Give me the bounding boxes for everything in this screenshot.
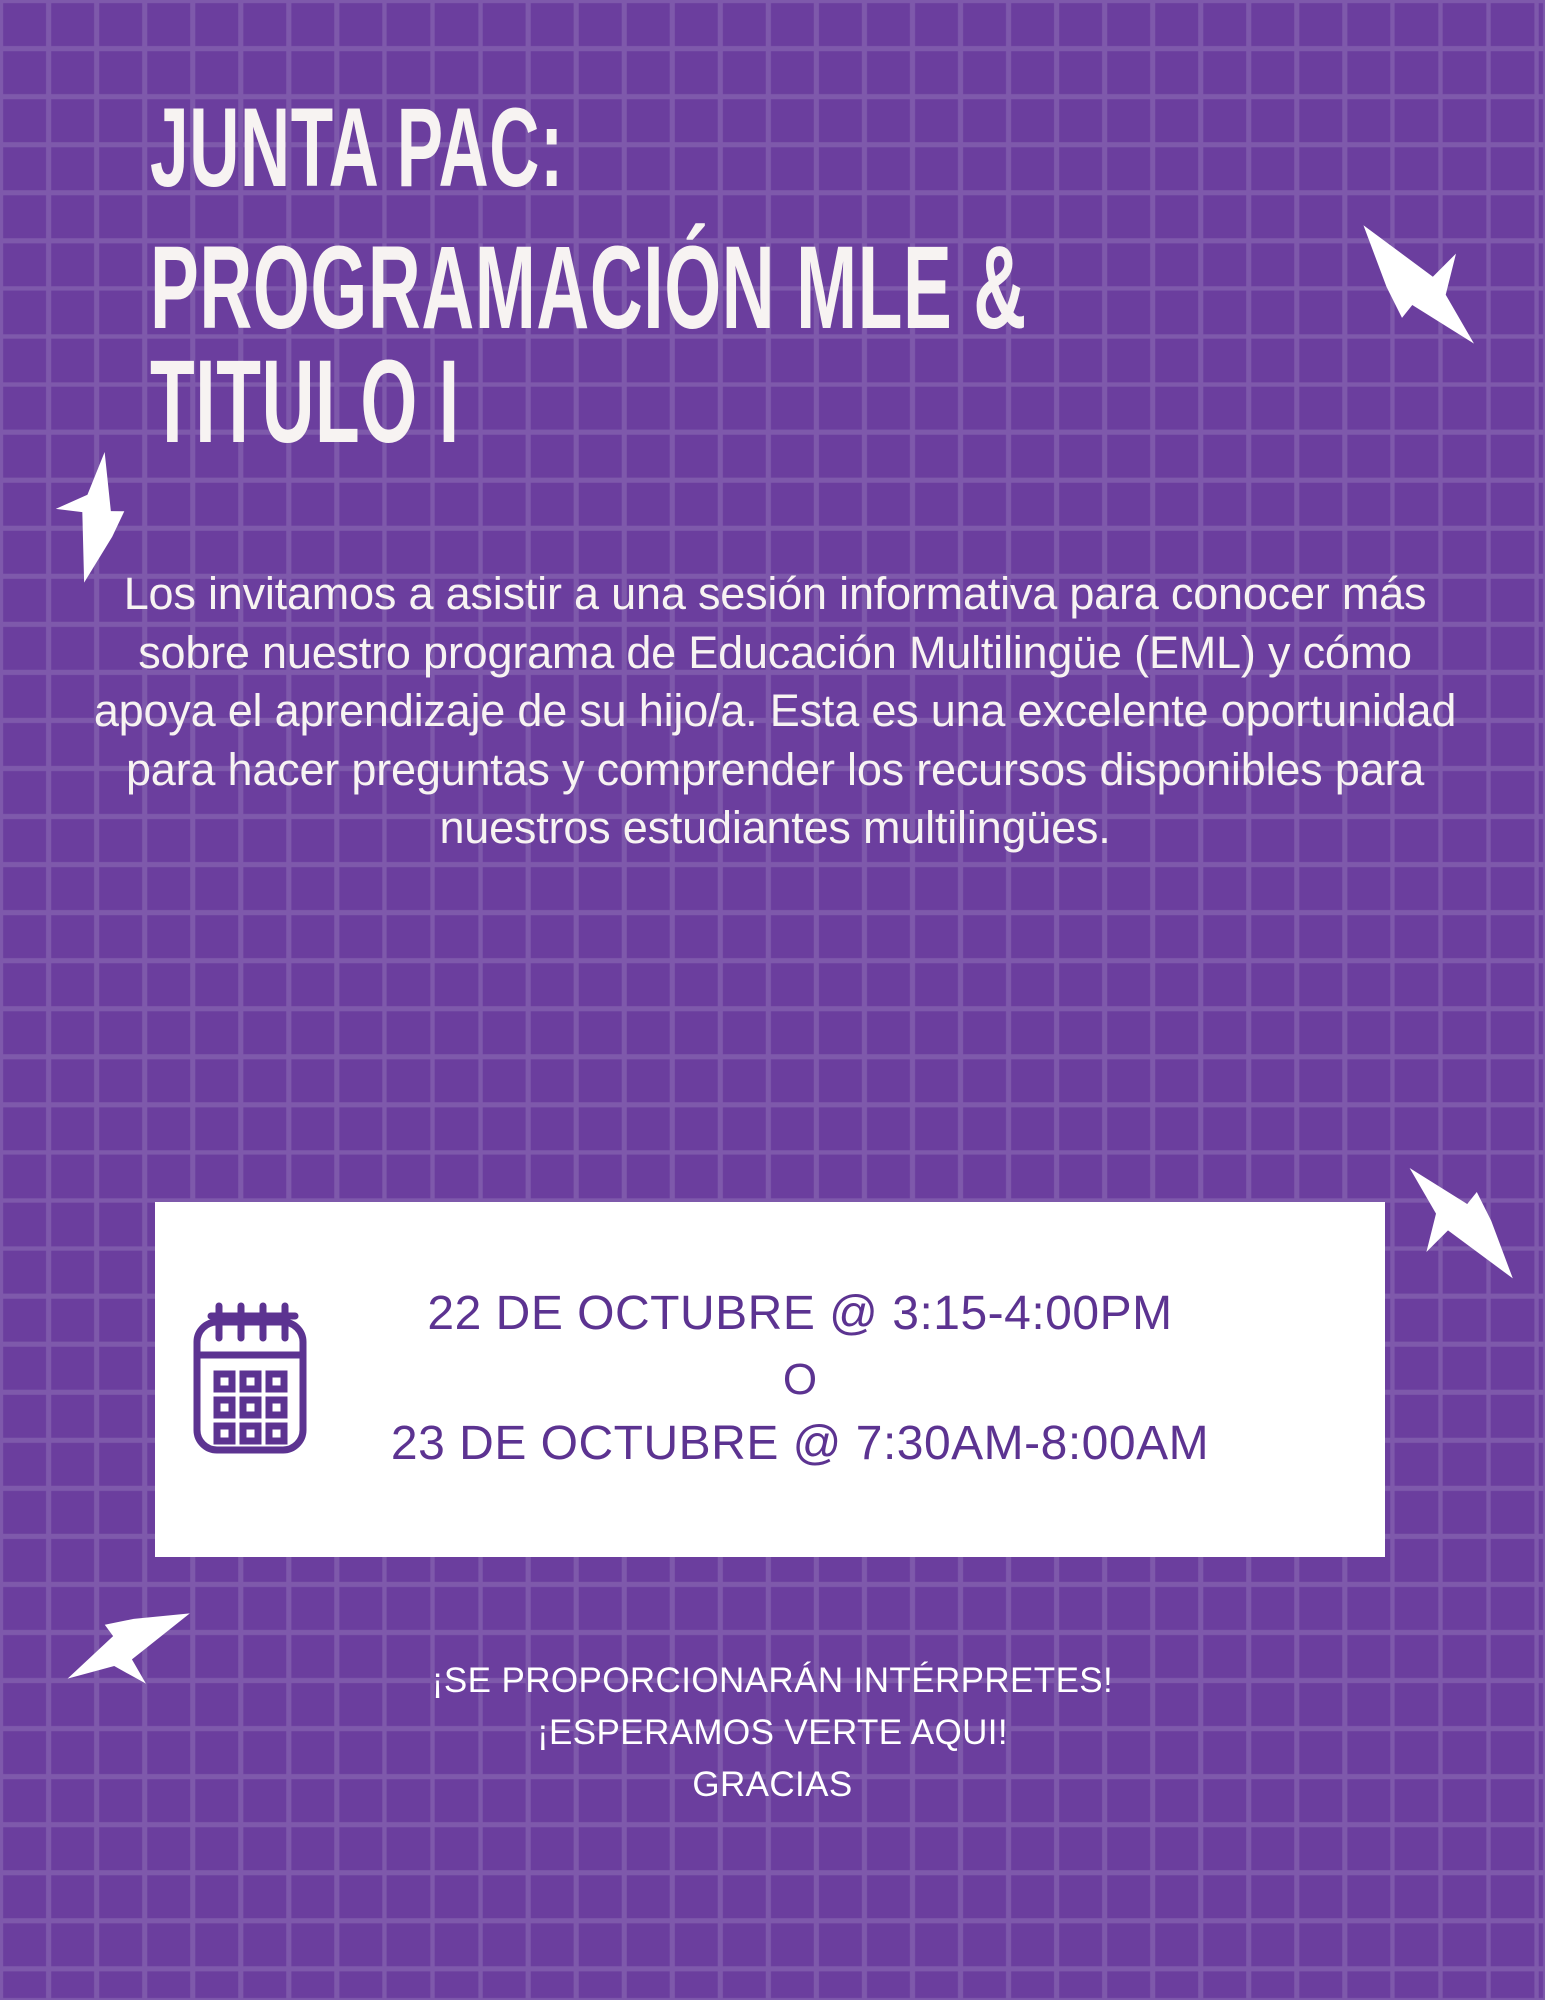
- date-card: 22 DE OCTUBRE @ 3:15-4:00PM O 23 DE OCTU…: [155, 1202, 1385, 1557]
- footer-line-2: ¡ESPERAMOS VERTE AQUI!: [0, 1707, 1545, 1759]
- date-option-1: 22 DE OCTUBRE @ 3:15-4:00PM: [225, 1281, 1375, 1347]
- body-paragraph: Los invitamos a asistir a una sesión inf…: [85, 565, 1465, 858]
- title-line-2: PROGRAMACIÓN MLE &: [150, 234, 925, 344]
- title-line-1: JUNTA PAC:: [150, 96, 925, 200]
- date-option-2: 23 DE OCTUBRE @ 7:30AM-8:00AM: [225, 1411, 1375, 1477]
- footer-line-3: GRACIAS: [0, 1759, 1545, 1811]
- page-title: JUNTA PAC: PROGRAMACIÓN MLE & TITULO I: [150, 96, 1400, 458]
- date-options: 22 DE OCTUBRE @ 3:15-4:00PM O 23 DE OCTU…: [155, 1281, 1385, 1477]
- footer-notes: ¡SE PROPORCIONARÁN INTÉRPRETES! ¡ESPERAM…: [0, 1655, 1545, 1810]
- flyer-canvas: JUNTA PAC: PROGRAMACIÓN MLE & TITULO I L…: [0, 0, 1545, 2000]
- footer-line-1: ¡SE PROPORCIONARÁN INTÉRPRETES!: [0, 1655, 1545, 1707]
- calendar-icon: [185, 1300, 315, 1460]
- date-separator: O: [225, 1348, 1375, 1412]
- title-line-3: TITULO I: [150, 348, 925, 458]
- lightning-bolt-icon: [1400, 1155, 1520, 1295]
